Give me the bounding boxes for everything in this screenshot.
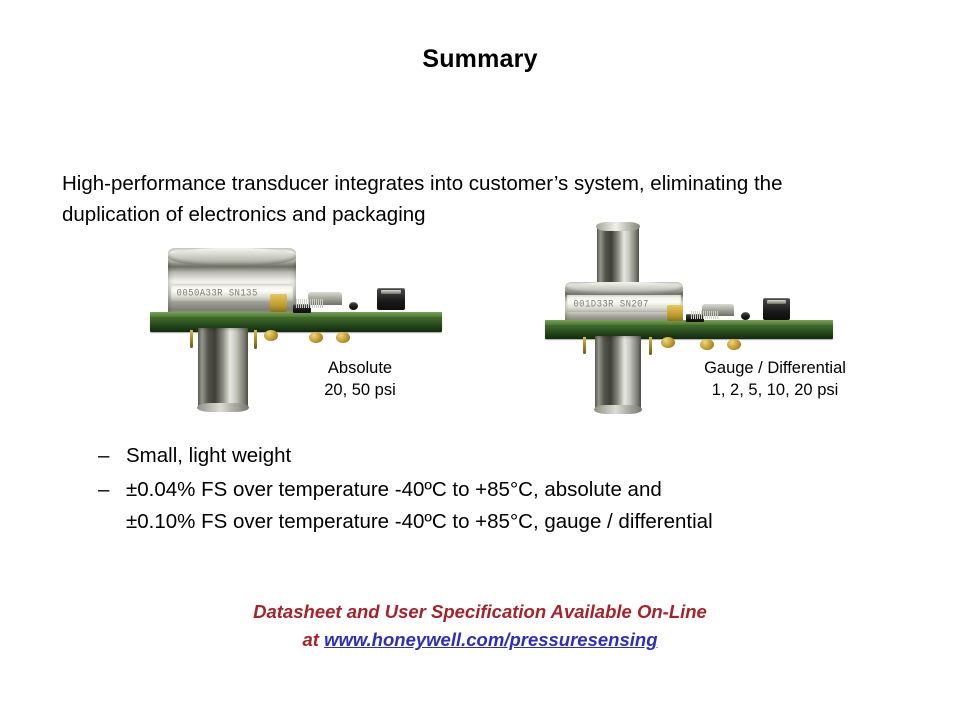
- footer-line-2: at www.honeywell.com/pressuresensing: [0, 626, 960, 654]
- can-label-band: 001D33R SN207: [567, 295, 680, 312]
- tube-bottom-rim: [594, 405, 642, 414]
- circuit-board: [545, 320, 833, 339]
- pressure-port-tube-top: [597, 226, 639, 288]
- caption-gauge-differential-sensor: Gauge / Differential 1, 2, 5, 10, 20 psi: [660, 357, 890, 401]
- solder-joint: [336, 332, 350, 343]
- solder-joint: [264, 330, 278, 341]
- board-pin: [254, 330, 257, 349]
- bullet-text: Small, light weight: [126, 444, 291, 467]
- component-connector-pins: [381, 290, 401, 294]
- caption-absolute-sensor: Absolute 20, 50 psi: [265, 357, 455, 401]
- page-title: Summary: [0, 45, 960, 74]
- component-chip-small: [741, 312, 750, 320]
- component-ic-pins: [296, 299, 340, 308]
- footer-line-1: Datasheet and User Specification Availab…: [0, 598, 960, 626]
- board-pin: [583, 337, 586, 354]
- solder-joint: [700, 339, 714, 350]
- tube-top-rim: [596, 222, 640, 231]
- bullet-dash: –: [98, 474, 109, 506]
- board-pin: [649, 337, 652, 355]
- tube-bottom-rim: [197, 403, 249, 412]
- footer-at-label: at: [302, 629, 324, 650]
- circuit-board: [150, 312, 442, 332]
- bullet-text-continuation: ±0.10% FS over temperature -40ºC to +85°…: [126, 506, 898, 538]
- component-capacitor-1: [667, 305, 683, 321]
- board-pin: [190, 330, 193, 348]
- solder-joint: [727, 339, 741, 350]
- solder-joint: [661, 337, 675, 348]
- pressure-port-tube-bottom: [595, 336, 641, 410]
- can-top-face: [168, 248, 296, 266]
- footer-headline: Datasheet and User Specification Availab…: [253, 601, 707, 622]
- intro-paragraph: High-performance transducer integrates i…: [62, 168, 878, 230]
- footer-website-link[interactable]: www.honeywell.com/pressuresensing: [324, 629, 657, 650]
- component-connector-pins: [767, 300, 786, 304]
- footer: Datasheet and User Specification Availab…: [0, 598, 960, 654]
- bullet-item-1: – Small, light weight: [98, 440, 898, 472]
- solder-joint: [309, 332, 323, 343]
- can-label-text: 001D33R SN207: [567, 298, 648, 310]
- component-chip-small: [349, 302, 358, 310]
- bullet-item-2: – ±0.04% FS over temperature -40ºC to +8…: [98, 474, 898, 538]
- component-ic-pins: [691, 311, 733, 319]
- bullet-text: ±0.04% FS over temperature -40ºC to +85°…: [126, 478, 662, 501]
- bullet-list: – Small, light weight – ±0.04% FS over t…: [98, 440, 898, 540]
- component-capacitor-1: [270, 294, 287, 312]
- pressure-port-tube: [198, 328, 248, 408]
- can-label-text: 0050A33R SN135: [171, 287, 258, 299]
- can-top-face: [565, 282, 683, 295]
- bullet-dash: –: [98, 440, 109, 472]
